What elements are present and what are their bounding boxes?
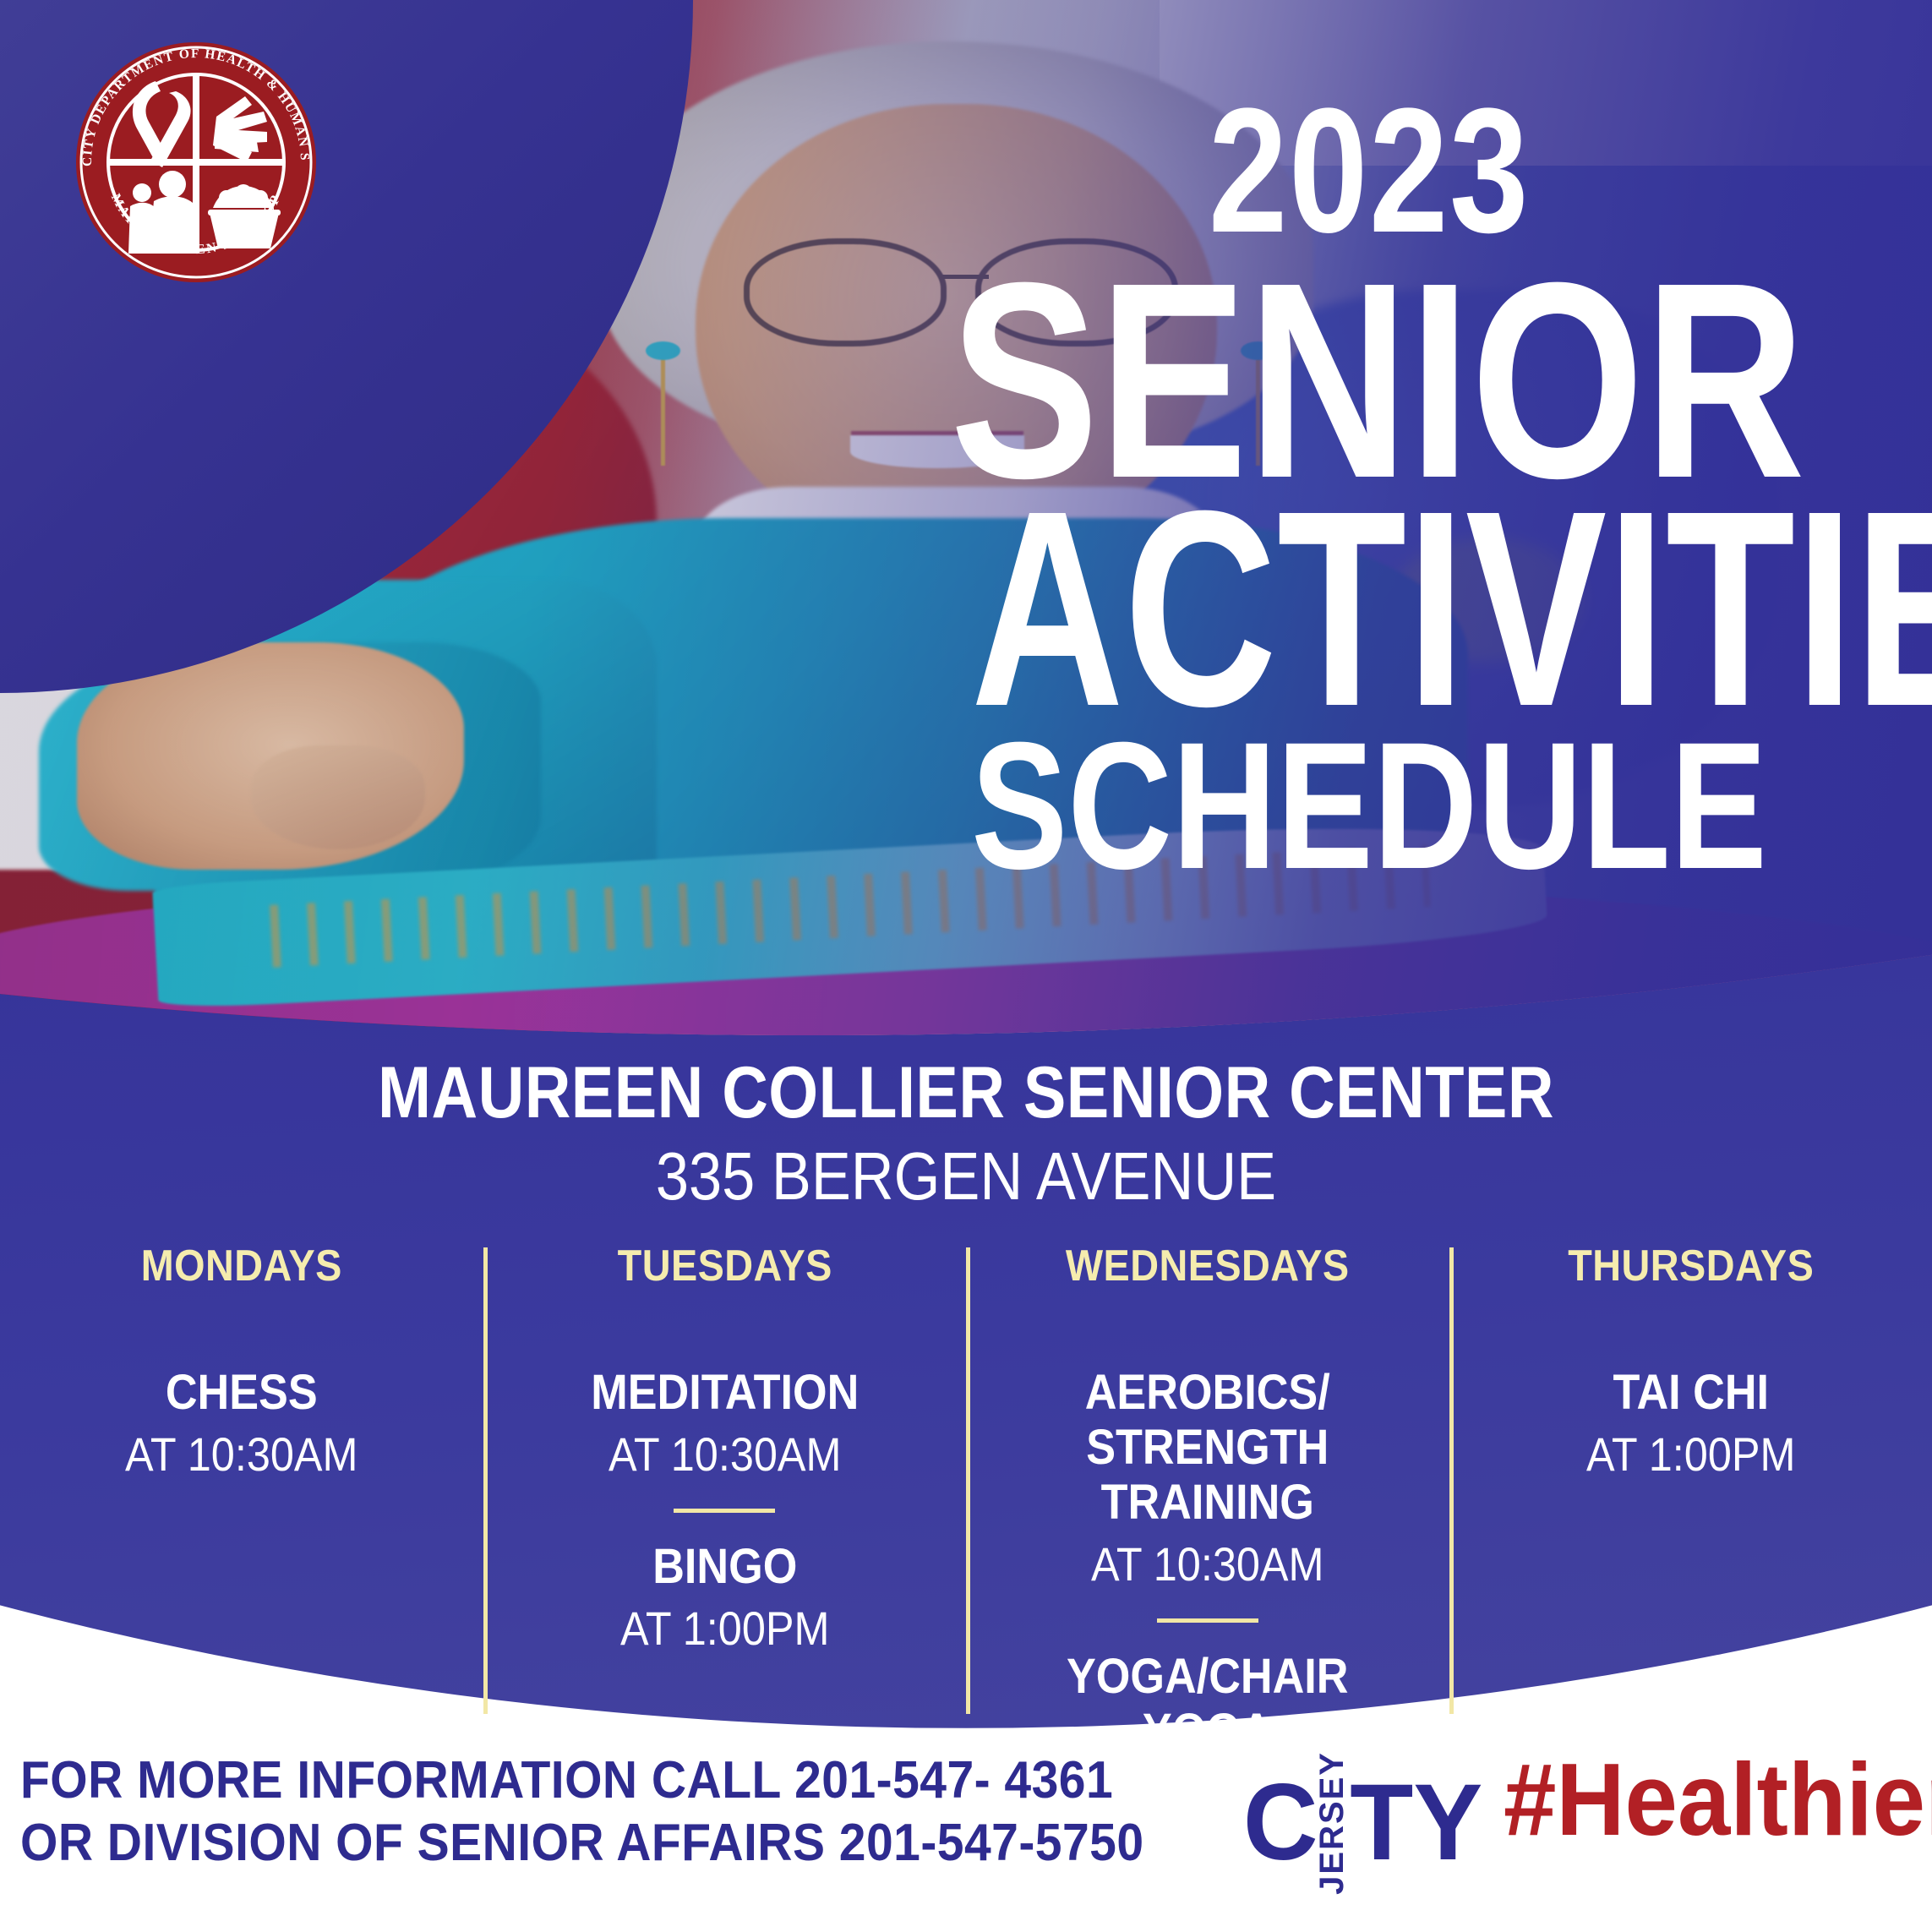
schedule-column-tuesdays: TUESDAYS MEDITATION AT 10:30AM BINGO AT …: [483, 1241, 967, 1731]
venue-name: MAUREEN COLLIER SENIOR CENTER: [116, 1055, 1816, 1132]
activity-time: AT 1:00PM: [1487, 1426, 1894, 1483]
activity-time: AT 10:30AM: [38, 1426, 445, 1483]
venue-address: 335 BERGEN AVENUE: [116, 1137, 1816, 1216]
venue-block: MAUREEN COLLIER SENIOR CENTER 335 BERGEN…: [0, 1055, 1932, 1217]
department-seal-logo: JERSEY CITY DEPARTMENT OF HEALTH & HUMAN…: [52, 19, 340, 306]
activity-separator: [674, 1509, 775, 1513]
schedule-column-thursdays: THURSDAYS TAI CHI AT 1:00PM: [1449, 1241, 1932, 1731]
day-label-tuesdays: TUESDAYS: [521, 1241, 928, 1291]
day-label-thursdays: THURSDAYS: [1487, 1241, 1894, 1291]
activity-name: MEDITATION: [521, 1366, 928, 1421]
jersey-city-wordmark: C JERSEY TY: [1242, 1751, 1485, 1895]
healthierjc-hashtag: #HealthierJC: [1504, 1751, 1932, 1849]
activity-time: AT 10:30AM: [521, 1426, 928, 1483]
activity-name: AEROBICS/ STRENGTH TRAINING: [1004, 1366, 1411, 1531]
jc-letters-ty: TY: [1350, 1774, 1482, 1871]
activity-time: AT 1:00PM: [521, 1600, 928, 1657]
day-label-wednesdays: WEDNESDAYS: [1004, 1241, 1411, 1291]
activity-list-mondays: CHESS AT 10:30AM: [15, 1366, 468, 1483]
jc-letter-c: C: [1243, 1774, 1318, 1871]
activity-item: BINGO AT 1:00PM: [499, 1540, 952, 1657]
poster-title: 2023 SENIOR ACTIVITIES SCHEDULE: [845, 95, 1893, 884]
activity-item: MEDITATION AT 10:30AM: [499, 1366, 952, 1483]
activity-name: CHESS: [38, 1366, 445, 1421]
poster-footer: FOR MORE INFORMATION CALL 201-547- 4361 …: [0, 1729, 1932, 1932]
jc-vertical-jersey: JERSEY: [1315, 1751, 1349, 1895]
activity-list-thursdays: TAI CHI AT 1:00PM: [1465, 1366, 1918, 1483]
jersey-city-healthierjc-logo: C JERSEY TY #HealthierJC: [1242, 1749, 1932, 1895]
activity-list-tuesdays: MEDITATION AT 10:30AM BINGO AT 1:00PM: [499, 1366, 952, 1658]
schedule-column-mondays: MONDAYS CHESS AT 10:30AM: [0, 1241, 483, 1731]
activity-time: AT 10:30AM: [1004, 1536, 1411, 1593]
schedule-column-wednesdays: WEDNESDAYS AEROBICS/ STRENGTH TRAINING A…: [966, 1241, 1449, 1731]
senior-activities-schedule-poster: JERSEY CITY DEPARTMENT OF HEALTH & HUMAN…: [0, 0, 1932, 1932]
activity-name: TAI CHI: [1487, 1366, 1894, 1421]
footer-line-2: OR DIVISION OF SENIOR AFFAIRS 201-547-57…: [20, 1812, 1144, 1875]
footer-line-1: FOR MORE INFORMATION CALL 201-547- 4361: [20, 1749, 1144, 1812]
footer-contact-info: FOR MORE INFORMATION CALL 201-547- 4361 …: [20, 1749, 1242, 1875]
weekly-schedule-grid: MONDAYS CHESS AT 10:30AM TUESDAYS MEDITA…: [0, 1241, 1932, 1731]
activity-separator: [1157, 1618, 1258, 1623]
title-line-schedule: SCHEDULE: [950, 729, 1788, 884]
title-line-activities: ACTIVITIES: [971, 494, 1767, 723]
activity-name: BINGO: [521, 1540, 928, 1595]
activity-item: CHESS AT 10:30AM: [15, 1366, 468, 1483]
activity-item: TAI CHI AT 1:00PM: [1465, 1366, 1918, 1483]
day-label-mondays: MONDAYS: [38, 1241, 445, 1291]
activity-item: AEROBICS/ STRENGTH TRAINING AT 10:30AM: [981, 1366, 1434, 1593]
